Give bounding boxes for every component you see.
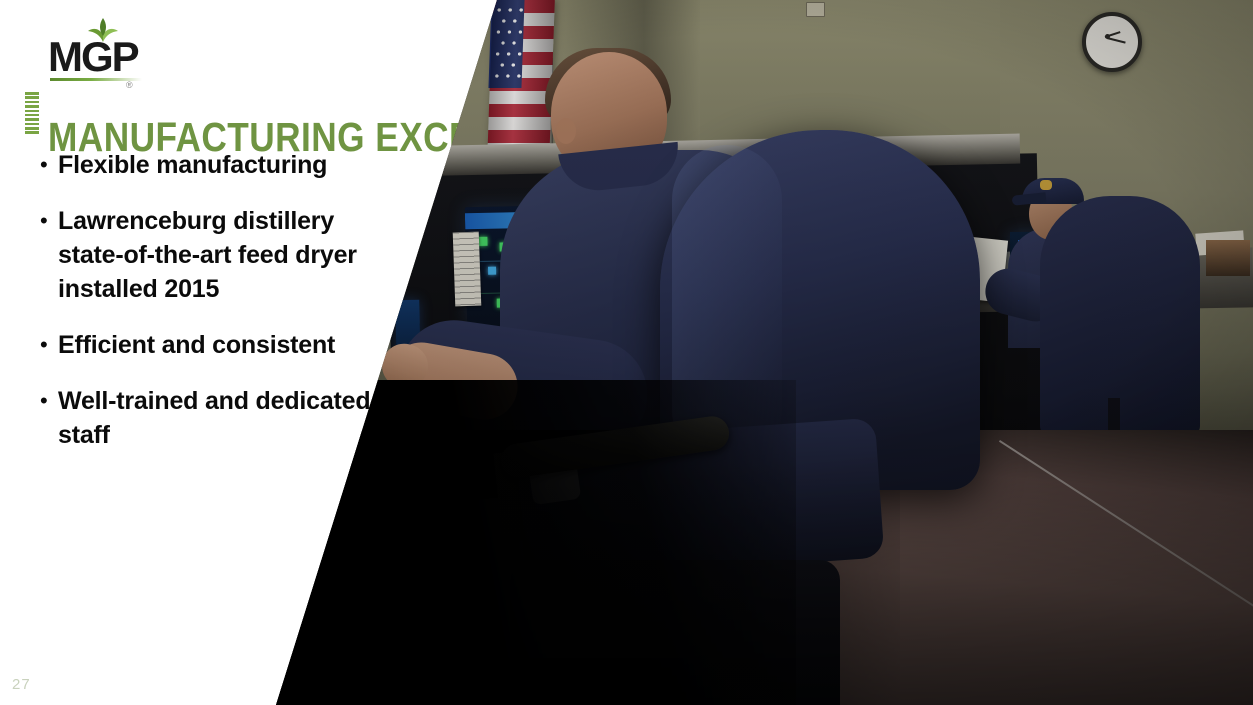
logo-wordmark: MGP — [48, 36, 138, 78]
list-item: • Flexible manufacturing — [40, 148, 385, 182]
list-item-label: Lawrenceburg distillery state-of-the-art… — [58, 204, 385, 306]
list-item: • Lawrenceburg distillery state-of-the-a… — [40, 204, 385, 306]
bullet-marker-icon: • — [40, 148, 58, 182]
ladder-stripes-icon — [25, 92, 39, 134]
bullet-marker-icon: • — [40, 328, 58, 362]
bullet-marker-icon: • — [40, 204, 58, 238]
presentation-slide: MGP ® MANUFACTURING EXCELLENCE • Flexibl… — [0, 0, 1253, 705]
bullet-marker-icon: • — [40, 384, 58, 418]
page-number: 27 — [12, 676, 31, 693]
list-item-label: Well-trained and dedicated staff — [58, 384, 385, 452]
list-item: • Efficient and consistent — [40, 328, 385, 362]
list-item: • Well-trained and dedicated staff — [40, 384, 385, 452]
registered-trademark-icon: ® — [126, 80, 133, 90]
list-item-label: Efficient and consistent — [58, 328, 335, 362]
list-item-label: Flexible manufacturing — [58, 148, 327, 182]
bullet-list: • Flexible manufacturing • Lawrenceburg … — [40, 148, 385, 474]
mgp-logo: MGP ® — [48, 18, 148, 76]
